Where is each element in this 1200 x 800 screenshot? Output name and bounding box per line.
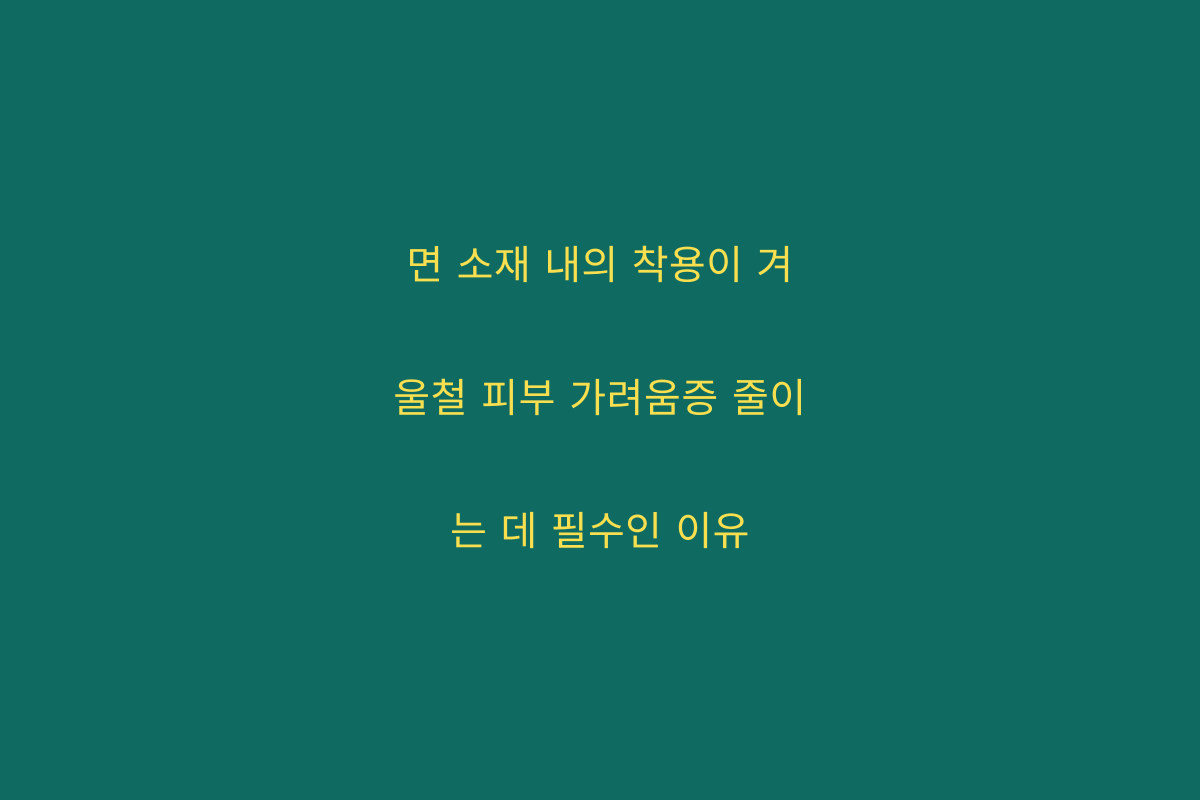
- title-card: 면 소재 내의 착용이 겨 울철 피부 가려움증 줄이 는 데 필수인 이유: [0, 0, 1200, 800]
- title-line-3: 는 데 필수인 이유: [70, 466, 1130, 599]
- title-line-2: 울철 피부 가려움증 줄이: [70, 333, 1130, 466]
- title-text-block: 면 소재 내의 착용이 겨 울철 피부 가려움증 줄이 는 데 필수인 이유: [70, 200, 1130, 599]
- title-line-1: 면 소재 내의 착용이 겨: [70, 200, 1130, 333]
